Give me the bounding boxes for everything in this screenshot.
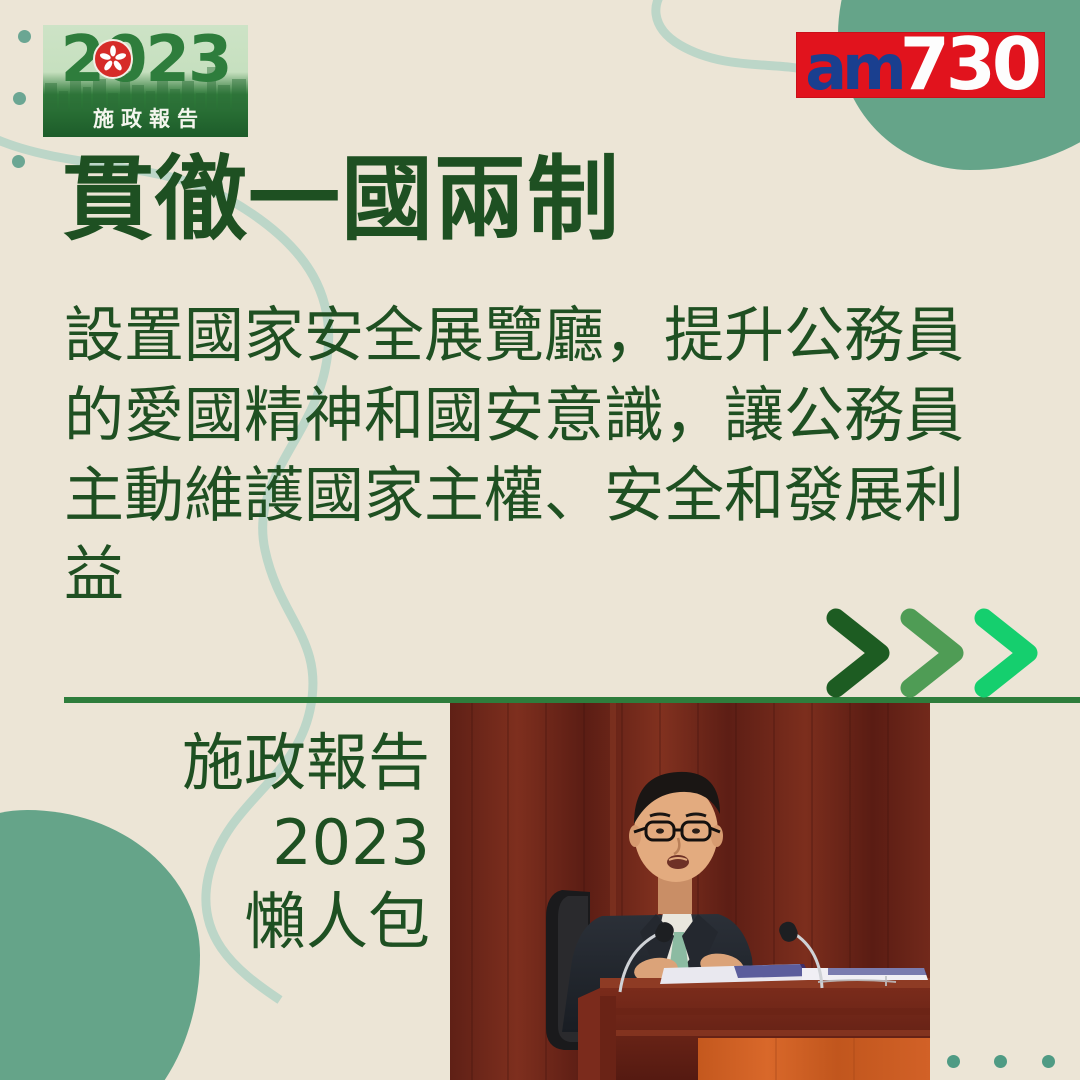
speaker-photo (450, 700, 930, 1080)
am730-suffix: 730 (900, 36, 1038, 92)
chevron-right-icon (970, 608, 1044, 698)
chevron-right-icon (822, 608, 896, 698)
body-paragraph: 設置國家安全展覽廳，提升公務員的愛國精神和國安意識，讓公務員主動維護國家主權、安… (64, 296, 994, 615)
logo-year: 2023 (43, 29, 248, 91)
caption-line-1: 施政報告 (60, 724, 430, 803)
page-title: 貫徹一國兩制 (62, 152, 620, 249)
am730-publisher-logo: am 730 (796, 32, 1045, 98)
logo-subtitle: 施政報告 (43, 103, 248, 133)
caption-line-2: 2023 (60, 803, 430, 882)
poster-canvas: 2023 施政報告 am 730 貫徹一國兩制 設置國家安全展覽廳，提升公務員的… (0, 0, 1080, 1080)
am730-prefix: am (805, 44, 901, 92)
decorative-dot (994, 1055, 1007, 1068)
caption-line-3: 懶人包 (60, 883, 430, 962)
decorative-dot (18, 30, 31, 43)
hong-kong-bauhinia-emblem-icon (93, 39, 133, 79)
series-caption: 施政報告 2023 懶人包 (60, 724, 430, 962)
swipe-next-indicator[interactable] (822, 608, 1044, 698)
decorative-dot (13, 92, 26, 105)
decorative-dot (12, 155, 25, 168)
policy-address-logo: 2023 施政報告 (43, 25, 248, 137)
chevron-right-icon (896, 608, 970, 698)
decorative-dot (1042, 1055, 1055, 1068)
decorative-dot (947, 1055, 960, 1068)
